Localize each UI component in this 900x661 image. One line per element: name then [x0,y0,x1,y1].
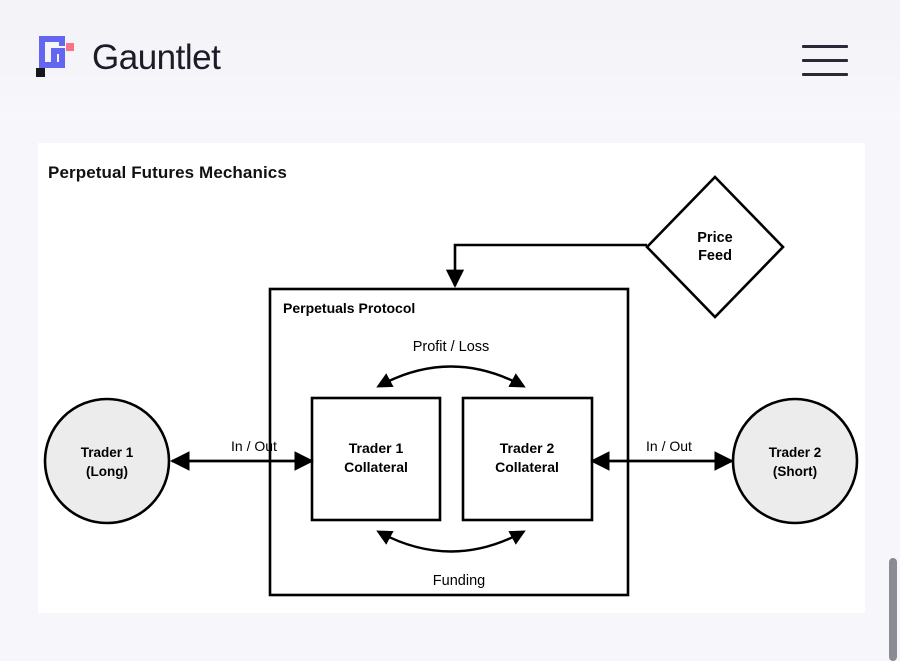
hamburger-menu-icon[interactable] [802,36,854,84]
menu-bar-2 [802,59,848,62]
page-scrollbar[interactable] [889,0,897,661]
trader1-label-line2: (Long) [86,464,128,479]
trader1-collateral-label-line1: Trader 1 [349,440,404,456]
trader2-collateral-label-line2: Collateral [495,459,559,475]
edge-funding-arrow [379,532,523,552]
edge-profit-loss-arrow [379,367,523,387]
edge-label-profit-loss: Profit / Loss [413,339,490,355]
node-price-feed[interactable]: Price Feed [647,177,783,317]
price-feed-diamond-shape [647,177,783,317]
node-trader1-collateral[interactable]: Trader 1 Collateral [312,398,440,520]
trader2-collateral-label-line1: Trader 2 [500,440,555,456]
trader1-label-line1: Trader 1 [81,445,134,460]
price-feed-label-line2: Feed [698,248,732,264]
node-trader1[interactable]: Trader 1 (Long) [45,399,169,523]
site-header: Gauntlet [0,0,900,121]
trader1-collateral-label-line2: Collateral [344,459,408,475]
brand-name: Gauntlet [92,40,220,75]
edge-label-in-out-left: In / Out [231,438,277,454]
trader2-label-line1: Trader 2 [769,445,822,460]
menu-bar-3 [802,73,848,76]
menu-bar-1 [802,45,848,48]
node-trader2[interactable]: Trader 2 (Short) [733,399,857,523]
scrollbar-thumb[interactable] [889,558,897,661]
brand[interactable]: Gauntlet [33,33,220,81]
node-trader2-collateral[interactable]: Trader 2 Collateral [463,398,592,520]
price-feed-label-line1: Price [697,230,732,246]
perpetual-futures-diagram: Price Feed Perpetuals Protocol Profit / … [38,143,865,613]
trader1-circle-shape [45,399,169,523]
edge-price-feed-to-protocol [455,245,647,286]
gauntlet-g-logo-icon [33,33,75,81]
edge-label-in-out-right: In / Out [646,438,692,454]
trader2-label-line2: (Short) [773,464,817,479]
perpetuals-protocol-label: Perpetuals Protocol [283,300,415,316]
trader2-circle-shape [733,399,857,523]
edge-label-funding: Funding [433,573,485,589]
diagram-card: Perpetual Futures Mechanics Price Feed P… [38,143,865,613]
